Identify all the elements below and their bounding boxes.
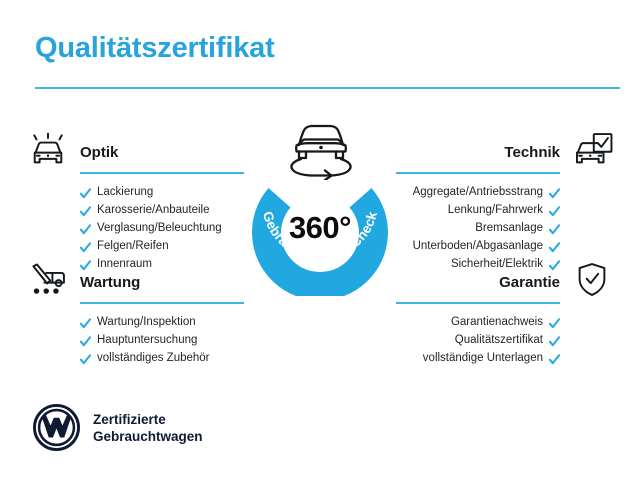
badge-value: 360° — [240, 210, 400, 246]
list-item-label: Karosserie/Anbauteile — [97, 201, 210, 219]
section-header: Technik — [396, 128, 618, 174]
check-icon — [549, 223, 560, 234]
checklist-garantie: Garantienachweis Qualitätszertifikat vol… — [396, 313, 618, 367]
list-item: Wartung/Inspektion — [22, 313, 244, 331]
list-item: Lackierung — [22, 183, 244, 201]
checklist-wartung: Wartung/Inspektion Hauptuntersuchung vol… — [22, 313, 244, 367]
list-item: Qualitätszertifikat — [396, 331, 618, 349]
list-item: Felgen/Reifen — [22, 237, 244, 255]
list-item-label: vollständiges Zubehör — [97, 349, 210, 367]
car-shine-icon — [22, 128, 74, 172]
car-wrench-icon — [22, 258, 74, 302]
list-item: Unterboden/Abgasanlage — [396, 237, 618, 255]
check-icon — [80, 241, 91, 252]
list-item: vollständige Unterlagen — [396, 349, 618, 367]
section-title: Wartung — [80, 274, 140, 291]
badge-360-check: Gebrauchtwagen-Check 360° — [240, 118, 402, 296]
section-divider — [396, 302, 560, 304]
brand-lockup: Zertifizierte Gebrauchtwagen — [33, 404, 203, 451]
list-item-label: Felgen/Reifen — [97, 237, 169, 255]
list-item-label: Unterboden/Abgasanlage — [413, 237, 543, 255]
check-icon — [549, 205, 560, 216]
section-wartung: Wartung Wartung/Inspektion Hauptuntersuc… — [22, 258, 244, 367]
list-item: Garantienachweis — [396, 313, 618, 331]
check-icon — [549, 187, 560, 198]
check-icon — [80, 223, 91, 234]
check-icon — [80, 205, 91, 216]
section-title: Technik — [504, 144, 560, 161]
list-item: vollständiges Zubehör — [22, 349, 244, 367]
shield-check-icon — [566, 258, 618, 302]
list-item-label: Hauptuntersuchung — [97, 331, 197, 349]
section-header: Garantie — [396, 258, 618, 304]
list-item-label: vollständige Unterlagen — [423, 349, 543, 367]
section-optik: Optik Lackierung Karosserie/Anbauteile — [22, 128, 244, 273]
check-icon — [549, 353, 560, 364]
car-checkbox-icon — [566, 128, 618, 172]
title-divider — [35, 87, 620, 89]
check-icon — [549, 317, 560, 328]
brand-line-2: Gebrauchtwagen — [93, 428, 203, 445]
list-item-label: Qualitätszertifikat — [455, 331, 543, 349]
brand-text: Zertifizierte Gebrauchtwagen — [93, 411, 203, 445]
list-item-label: Verglasung/Beleuchtung — [97, 219, 222, 237]
section-divider — [80, 302, 244, 304]
list-item: Bremsanlage — [396, 219, 618, 237]
list-item-label: Lenkung/Fahrwerk — [448, 201, 543, 219]
check-icon — [549, 335, 560, 346]
vw-logo — [33, 404, 80, 451]
check-icon — [80, 335, 91, 346]
section-technik: Technik Aggregate/Antriebsstrang Lenkung… — [396, 128, 618, 273]
list-item-label: Lackierung — [97, 183, 153, 201]
check-icon — [549, 241, 560, 252]
certificate-page: Qualitätszertifikat Optik — [0, 0, 640, 480]
list-item: Hauptuntersuchung — [22, 331, 244, 349]
list-item: Lenkung/Fahrwerk — [396, 201, 618, 219]
section-title: Garantie — [499, 274, 560, 291]
section-header: Optik — [22, 128, 244, 174]
check-icon — [80, 187, 91, 198]
section-divider — [396, 172, 560, 174]
list-item-label: Bremsanlage — [475, 219, 543, 237]
check-icon — [80, 353, 91, 364]
list-item-label: Aggregate/Antriebsstrang — [413, 183, 543, 201]
check-icon — [80, 317, 91, 328]
section-divider — [80, 172, 244, 174]
page-title: Qualitätszertifikat — [35, 32, 275, 65]
list-item: Verglasung/Beleuchtung — [22, 219, 244, 237]
list-item: Karosserie/Anbauteile — [22, 201, 244, 219]
car-rotate-icon — [278, 118, 364, 180]
section-header: Wartung — [22, 258, 244, 304]
section-garantie: Garantie Garantienachweis Qualitätszerti… — [396, 258, 618, 367]
list-item-label: Wartung/Inspektion — [97, 313, 196, 331]
list-item: Aggregate/Antriebsstrang — [396, 183, 618, 201]
brand-line-1: Zertifizierte — [93, 411, 203, 428]
list-item-label: Garantienachweis — [451, 313, 543, 331]
section-title: Optik — [80, 144, 118, 161]
